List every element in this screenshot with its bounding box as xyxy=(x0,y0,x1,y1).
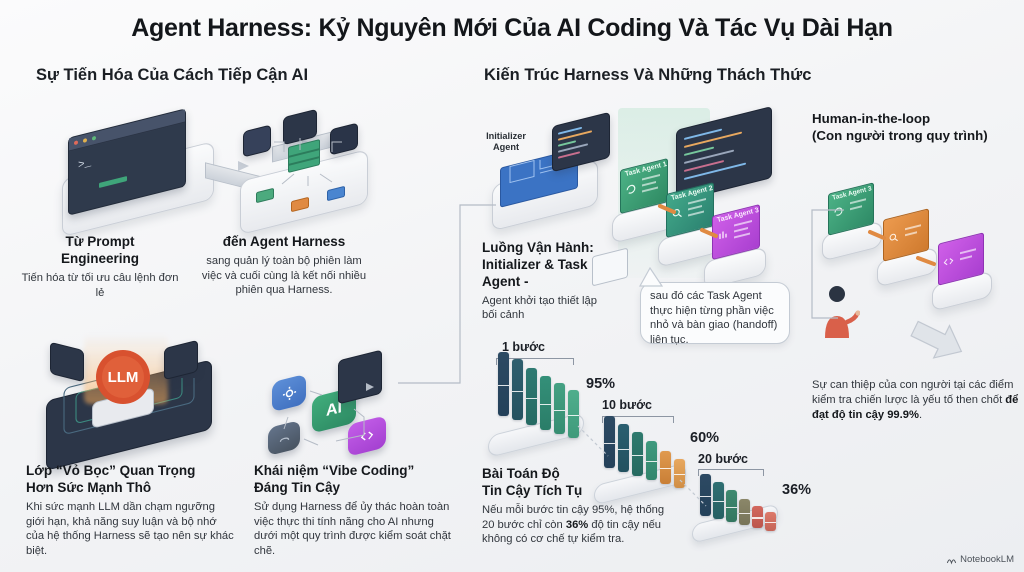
connector-human-loop xyxy=(786,200,846,330)
handoff-arrows xyxy=(656,196,726,256)
block-heading: đến Agent Harness xyxy=(196,234,372,251)
arrow-down-right-icon xyxy=(908,318,970,370)
block-heading: Từ Prompt Engineering xyxy=(20,234,180,268)
bar-group-value: 95% xyxy=(586,376,615,392)
block-body: Khi sức mạnh LLM dần chạm ngưỡng giới hạ… xyxy=(26,500,234,559)
block-heading: Luồng Vận Hành: Initializer & Task Agent… xyxy=(482,240,608,291)
infographic-canvas: Agent Harness: Kỷ Nguyên Mới Của AI Codi… xyxy=(0,0,1024,572)
bar-group-label: 10 bước xyxy=(602,398,652,412)
notebooklm-icon xyxy=(946,554,957,565)
llm-chip-label: LLM xyxy=(92,346,154,408)
bar-group-label: 20 bước xyxy=(698,452,748,466)
block-heading: Bài Toán Độ Tin Cậy Tích Tụ xyxy=(482,466,678,500)
section-heading-right: Kiến Trúc Harness Và Những Thách Thức xyxy=(484,66,811,85)
connector-group1-group2 xyxy=(576,424,610,464)
connector-group2-group3 xyxy=(678,478,708,514)
callout-human-body: Sự can thiệp của con người tại các điểm … xyxy=(812,378,1020,423)
bar-group-value: 60% xyxy=(690,430,719,446)
block-vo-boc: Lớp “Vỏ Bọc” Quan Trọng Hơn Sức Mạnh Thô… xyxy=(26,463,234,559)
bar-group-value: 36% xyxy=(782,482,811,498)
handoff-arrows-right xyxy=(866,226,946,286)
block-body: Tiến hóa từ tối ưu câu lệnh đơn lẻ xyxy=(20,271,180,301)
bar-group-3: 20 bước 36% xyxy=(692,452,802,552)
block-bai-toan-do-tin-cay: Bài Toán Độ Tin Cậy Tích Tụ Nếu mỗi bước… xyxy=(482,466,678,547)
section-heading-left: Sự Tiến Hóa Của Cách Tiếp Cận AI xyxy=(36,66,308,85)
screen-initializer-code xyxy=(552,112,610,172)
callout-human-in-the-loop: Human-in-the-loop (Con người trong quy t… xyxy=(812,110,1022,144)
watermark-label: NotebookLM xyxy=(960,554,1014,565)
block-body: Nếu mỗi bước tin cậy 95%, hệ thống 20 bư… xyxy=(482,503,678,547)
watermark: NotebookLM xyxy=(946,554,1014,565)
bubble-handoff-text: sau đó các Task Agent thực hiện từng phầ… xyxy=(650,289,782,347)
block-heading: Khái niệm “Vibe Coding” Đáng Tin Cậy xyxy=(254,463,460,497)
label-initializer-agent: Initializer Agent xyxy=(476,131,536,153)
block-body: sang quản lý toàn bộ phiên làm việc và c… xyxy=(196,254,372,298)
block-body: Agent khởi tạo thiết lập bối cảnh xyxy=(482,294,608,324)
block-agent-harness: đến Agent Harness sang quản lý toàn bộ p… xyxy=(196,234,372,298)
bubble-tail-icon xyxy=(636,266,664,290)
block-luong-van-hanh: Luồng Vận Hành: Initializer & Task Agent… xyxy=(482,240,608,323)
bar-group-label: 1 bước xyxy=(502,340,545,354)
block-vibe-coding: Khái niệm “Vibe Coding” Đáng Tin Cậy Sử … xyxy=(254,463,460,559)
block-body: Sử dụng Harness để ủy thác hoàn toàn việ… xyxy=(254,500,460,559)
page-title: Agent Harness: Kỷ Nguyên Mới Của AI Codi… xyxy=(0,14,1024,43)
block-prompt-engineering: Từ Prompt Engineering Tiến hóa từ tối ưu… xyxy=(20,234,180,300)
block-heading: Lớp “Vỏ Bọc” Quan Trọng Hơn Sức Mạnh Thô xyxy=(26,463,234,497)
